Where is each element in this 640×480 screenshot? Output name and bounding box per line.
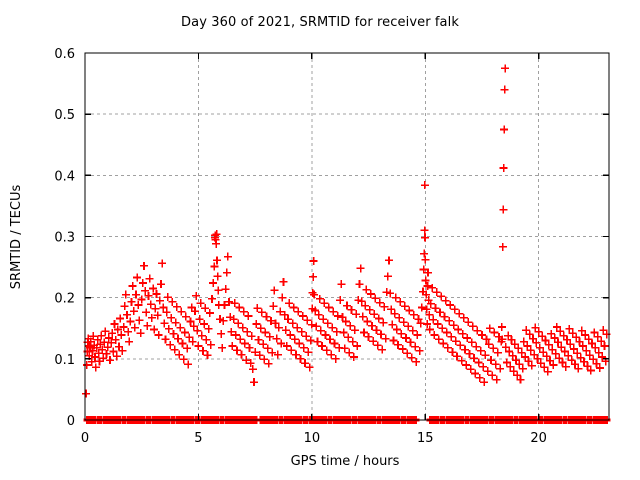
y-tick-label: 0.4: [54, 169, 75, 184]
y-tick-label: 0.1: [54, 353, 75, 368]
x-tick-label: 20: [530, 431, 547, 446]
y-axis-title: SRMTID / TECUs: [9, 185, 24, 290]
x-tick-label: 15: [417, 431, 434, 446]
y-tick-label: 0: [67, 414, 75, 429]
chart-page: Day 360 of 2021, SRMTID for receiver fal…: [0, 0, 640, 480]
y-tick-label: 0.3: [54, 231, 75, 246]
y-axis-tick-labels: 00.10.20.30.40.50.6: [54, 47, 75, 429]
y-tick-label: 0.2: [54, 292, 75, 307]
x-tick-label: 5: [194, 431, 202, 446]
y-tick-label: 0.6: [54, 47, 75, 62]
x-axis-title: GPS time / hours: [291, 454, 400, 469]
x-tick-label: 10: [304, 431, 321, 446]
scatter-plot: 00.10.20.30.40.50.6 05101520 GPS time / …: [0, 0, 640, 480]
x-tick-label: 0: [81, 431, 89, 446]
y-tick-label: 0.5: [54, 108, 75, 123]
x-axis-tick-labels: 05101520: [81, 431, 547, 446]
